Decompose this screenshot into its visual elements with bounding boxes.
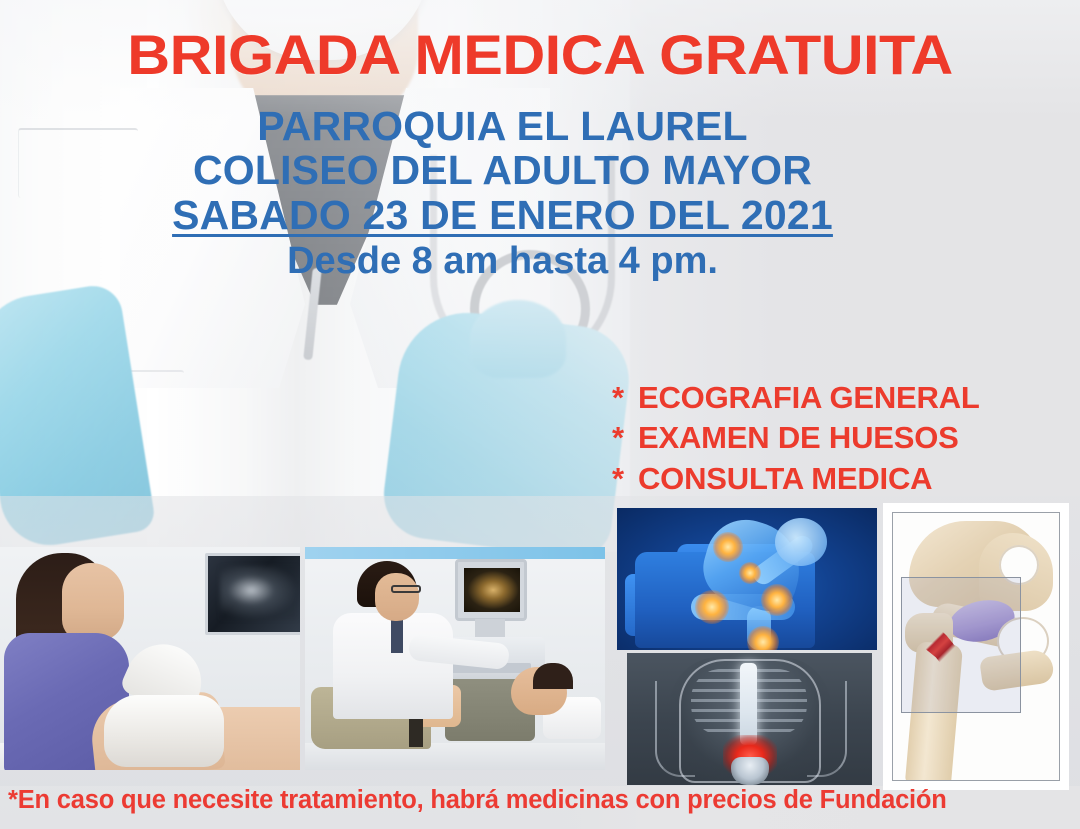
doctor-tie [391,619,403,653]
photo-hip-bone [883,503,1069,790]
service-label: ECOGRAFIA GENERAL [638,380,980,415]
service-label: CONSULTA MEDICA [638,461,932,496]
service-item-consulta: *CONSULTA MEDICA [612,459,1072,499]
bullet-star-icon: * [612,418,638,458]
anatomy-arm-left [655,681,695,777]
pain-glow-elbow [739,562,761,584]
detail-line-location: COLISEO DEL ADULTO MAYOR [0,148,1005,192]
highlight-selection-box [901,577,1021,713]
service-label: EXAMEN DE HUESOS [638,420,959,455]
poster-canvas: BRIGADA MEDICA GRATUITA PARROQUIA EL LAU… [0,0,1080,829]
anatomy-arm-right [807,681,847,777]
bullet-star-icon: * [612,459,638,499]
doctor-face [375,573,419,621]
monitor-stand [475,619,505,639]
service-item-ecografia: *ECOGRAFIA GENERAL [612,378,1072,418]
photo-joint-pain [617,508,877,650]
anatomy-head [775,518,827,566]
detail-line-schedule: Desde 8 am hasta 4 pm. [0,241,1005,282]
latex-glove [104,695,224,767]
photo-ultrasound-doctor [305,547,605,770]
ultrasound-monitor [205,553,300,635]
services-list: *ECOGRAFIA GENERAL *EXAMEN DE HUESOS *CO… [612,378,1072,499]
hip-bone-frame [892,512,1060,781]
pain-glow-ankle [747,626,779,650]
patient-face [62,563,124,641]
service-item-huesos: *EXAMEN DE HUESOS [612,418,1072,458]
anatomy-spine [740,663,757,745]
photo-back-pain [627,653,872,785]
pain-glow-knee [761,584,793,616]
photo-top-band [305,547,605,559]
pain-glow-hip [695,590,729,624]
pain-glow-shoulder [713,532,743,562]
ultrasound-monitor [455,559,527,621]
detail-line-date: SABADO 23 DE ENERO DEL 2021 [0,193,1005,237]
glasses-icon [391,585,421,593]
anatomy-pelvis [731,757,769,785]
patient-hair [533,663,573,689]
bullet-star-icon: * [612,378,638,418]
footnote-text: *En caso que necesite tratamiento, habrá… [8,786,1072,815]
event-details: PARROQUIA EL LAUREL COLISEO DEL ADULTO M… [0,104,1005,282]
page-title: BRIGADA MEDICA GRATUITA [0,22,1080,87]
ultrasound-screen-image [464,568,520,612]
detail-line-venue: PARROQUIA EL LAUREL [0,104,1005,148]
photo-ultrasound-woman [0,547,300,770]
